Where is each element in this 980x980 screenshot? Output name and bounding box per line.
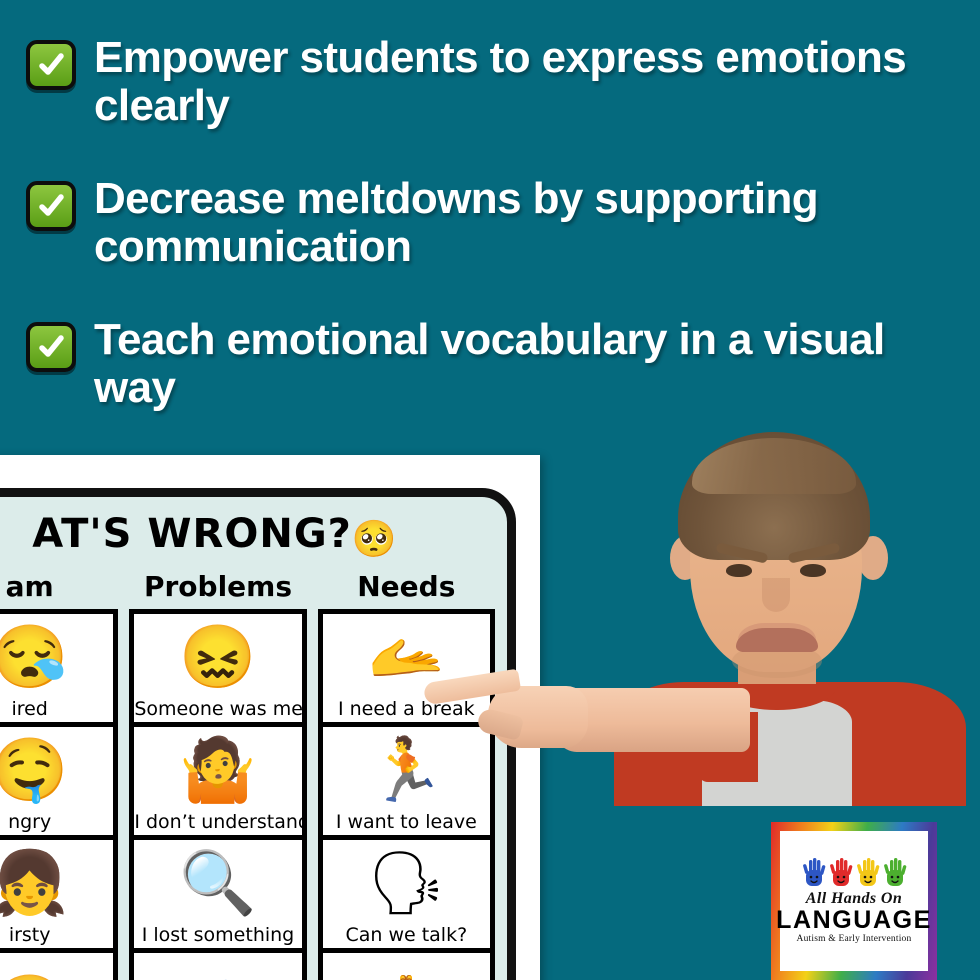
drooling-face-fork-emoji: 🤤: [0, 727, 113, 811]
poster-cell-tired[interactable]: 😪 ired: [0, 609, 118, 727]
two-people-speech-bubble-icon: 🗣: [323, 840, 490, 924]
poster-cell-label: I want to leave: [323, 811, 490, 835]
poster-cell-label: Someone was mean: [134, 698, 301, 722]
poster-cell-someone-was-mean[interactable]: 😖 Someone was mean: [129, 609, 306, 727]
stressed-person-icon: 😖: [134, 614, 301, 698]
poster-cell-label: ngry: [0, 811, 113, 835]
boy-eye-right: [800, 564, 826, 577]
checkbox-checked-icon: [26, 40, 76, 90]
pointing-finger-hand-photo: [430, 660, 730, 780]
hand-red-icon: [828, 858, 854, 888]
benefit-bullet-list: Empower students to express emotions cle…: [26, 34, 956, 457]
poster-columns: am 😪 ired 🤤 ngry: [0, 570, 495, 980]
checkbox-checked-icon: [26, 181, 76, 231]
partial-row-icon: 💤: [134, 953, 301, 980]
poster-title-text: AT'S WRONG?: [32, 511, 352, 557]
checkbox-checked-icon: [26, 322, 76, 372]
partial-row-icon: 😷: [0, 953, 113, 980]
poster-cell-label: ired: [0, 698, 113, 722]
poster-cell-label: I don’t understand: [134, 811, 301, 835]
bullet-item-3: Teach emotional vocabulary in a visual w…: [26, 316, 956, 411]
poster-cell-partial-row[interactable]: 🙏: [318, 948, 495, 980]
shrugging-figure-icon: 🤷: [134, 727, 301, 811]
poster-cell-can-we-talk[interactable]: 🗣 Can we talk?: [318, 835, 495, 953]
poster-cell-label: I lost something: [134, 924, 301, 948]
poster-cell-label: irsty: [0, 924, 113, 948]
poster-cell-thirsty[interactable]: 👧 irsty: [0, 835, 118, 953]
logo-tagline: Autism & Early Intervention: [797, 934, 912, 944]
column-header-problems: Problems: [129, 570, 306, 603]
magnifying-glass-question-icon: 🔍: [134, 840, 301, 924]
four-colored-hands-icon: [801, 858, 908, 888]
logo-wordmark: LANGUAGE: [776, 907, 932, 933]
partial-row-icon: 🙏: [323, 953, 490, 980]
bullet-text-3: Teach emotional vocabulary in a visual w…: [94, 315, 885, 412]
boy-nose: [762, 578, 790, 612]
poster-cell-i-dont-understand[interactable]: 🤷 I don’t understand: [129, 722, 306, 840]
sleeping-face-emoji: 😪: [0, 614, 113, 698]
bullet-text-2: Decrease meltdowns by supporting communi…: [94, 174, 818, 271]
pleading-face-emoji: 🥺: [352, 519, 398, 560]
poster-cell-partial-row[interactable]: 💤: [129, 948, 306, 980]
bullet-text-1: Empower students to express emotions cle…: [94, 33, 906, 130]
poster-cell-partial-row[interactable]: 😷: [0, 948, 118, 980]
bullet-item-2: Decrease meltdowns by supporting communi…: [26, 175, 956, 270]
poster-column-problems: Problems 😖 Someone was mean 🤷 I don’t un…: [129, 570, 306, 980]
poster-title: AT'S WRONG?🥺: [0, 511, 495, 560]
column-header-i-am: am: [0, 570, 118, 603]
poster-column-i-am: am 😪 ired 🤤 ngry: [0, 570, 118, 980]
poster-cell-label: Can we talk?: [323, 924, 490, 948]
girl-thinking-of-water-icon: 👧: [0, 840, 113, 924]
hand-green-icon: [882, 858, 908, 888]
brand-logo[interactable]: All Hands On LANGUAGE Autism & Early Int…: [771, 822, 937, 980]
poster-canvas: Empower students to express emotions cle…: [0, 0, 980, 980]
poster-cell-hungry[interactable]: 🤤 ngry: [0, 722, 118, 840]
boy-frowning-mouth: [736, 628, 818, 652]
bullet-item-1: Empower students to express emotions cle…: [26, 34, 956, 129]
hand-blue-icon: [801, 858, 827, 888]
boy-eye-left: [726, 564, 752, 577]
boy-hair: [678, 432, 870, 560]
logo-script-name: All Hands On: [806, 891, 902, 907]
poster-cell-i-lost-something[interactable]: 🔍 I lost something: [129, 835, 306, 953]
hand-yellow-icon: [855, 858, 881, 888]
column-header-needs: Needs: [318, 570, 495, 603]
logo-inner-card: All Hands On LANGUAGE Autism & Early Int…: [780, 831, 928, 971]
